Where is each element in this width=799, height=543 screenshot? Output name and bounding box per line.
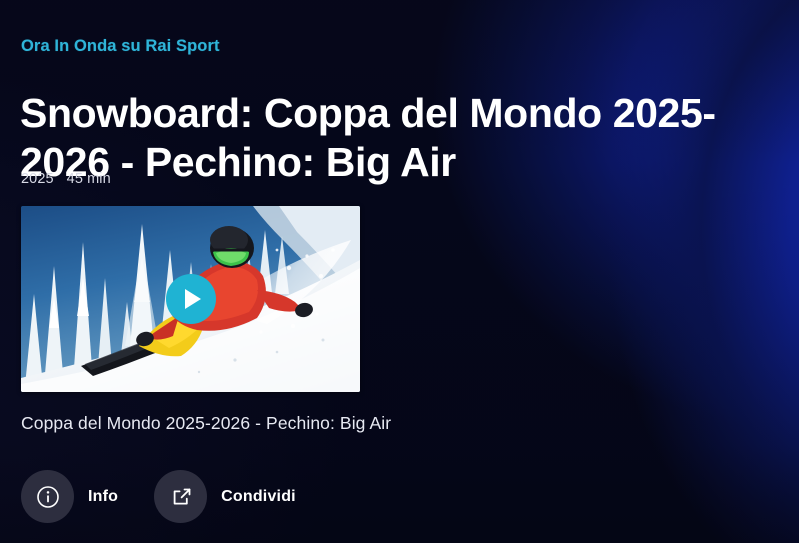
page-content: Ora In Onda su Rai Sport Snowboard: Copp… [0,0,799,543]
play-icon [185,289,201,309]
share-icon [154,470,207,523]
metadata-row: 2025 45 min [21,171,111,187]
info-button-label: Info [88,488,118,506]
now-playing-eyebrow: Ora In Onda su Rai Sport [21,37,220,56]
page-title: Snowboard: Coppa del Mondo 2025-2026 - P… [20,89,720,187]
info-button[interactable]: Info [21,470,134,523]
video-thumbnail[interactable] [21,206,360,392]
share-button[interactable]: Condividi [154,470,312,523]
metadata-duration: 45 min [67,171,111,187]
video-caption: Coppa del Mondo 2025-2026 - Pechino: Big… [21,413,391,434]
play-button[interactable] [166,274,216,324]
share-button-label: Condividi [221,488,296,506]
metadata-year: 2025 [21,171,54,187]
info-circle-icon [21,470,74,523]
video-detail-page: Ora In Onda su Rai Sport Snowboard: Copp… [0,0,799,543]
action-bar: Info Condividi [21,470,312,523]
